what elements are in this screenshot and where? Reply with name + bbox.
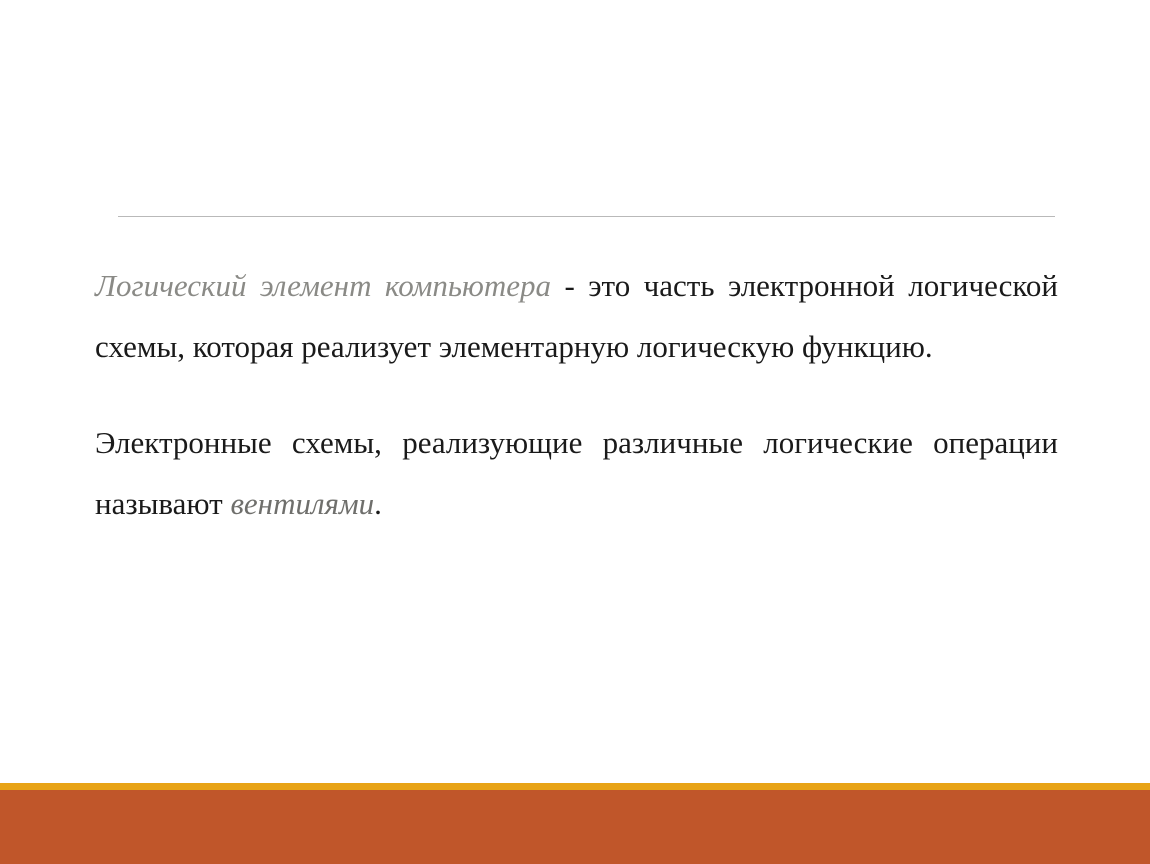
term-ventili: вентилями bbox=[230, 486, 374, 521]
footer-accent-stripe bbox=[0, 783, 1150, 790]
footer-bar bbox=[0, 790, 1150, 864]
paragraph-definition: Логический элемент компьютера - это част… bbox=[95, 255, 1058, 378]
slide: Логический элемент компьютера - это част… bbox=[0, 0, 1150, 864]
paragraph-gates: Электронные схемы, реализующие различные… bbox=[95, 412, 1058, 535]
divider-rule bbox=[118, 216, 1055, 217]
slide-body: Логический элемент компьютера - это част… bbox=[95, 255, 1058, 535]
gates-text-after: . bbox=[374, 486, 382, 521]
term-logical-element: Логический элемент компьютера bbox=[95, 268, 551, 303]
